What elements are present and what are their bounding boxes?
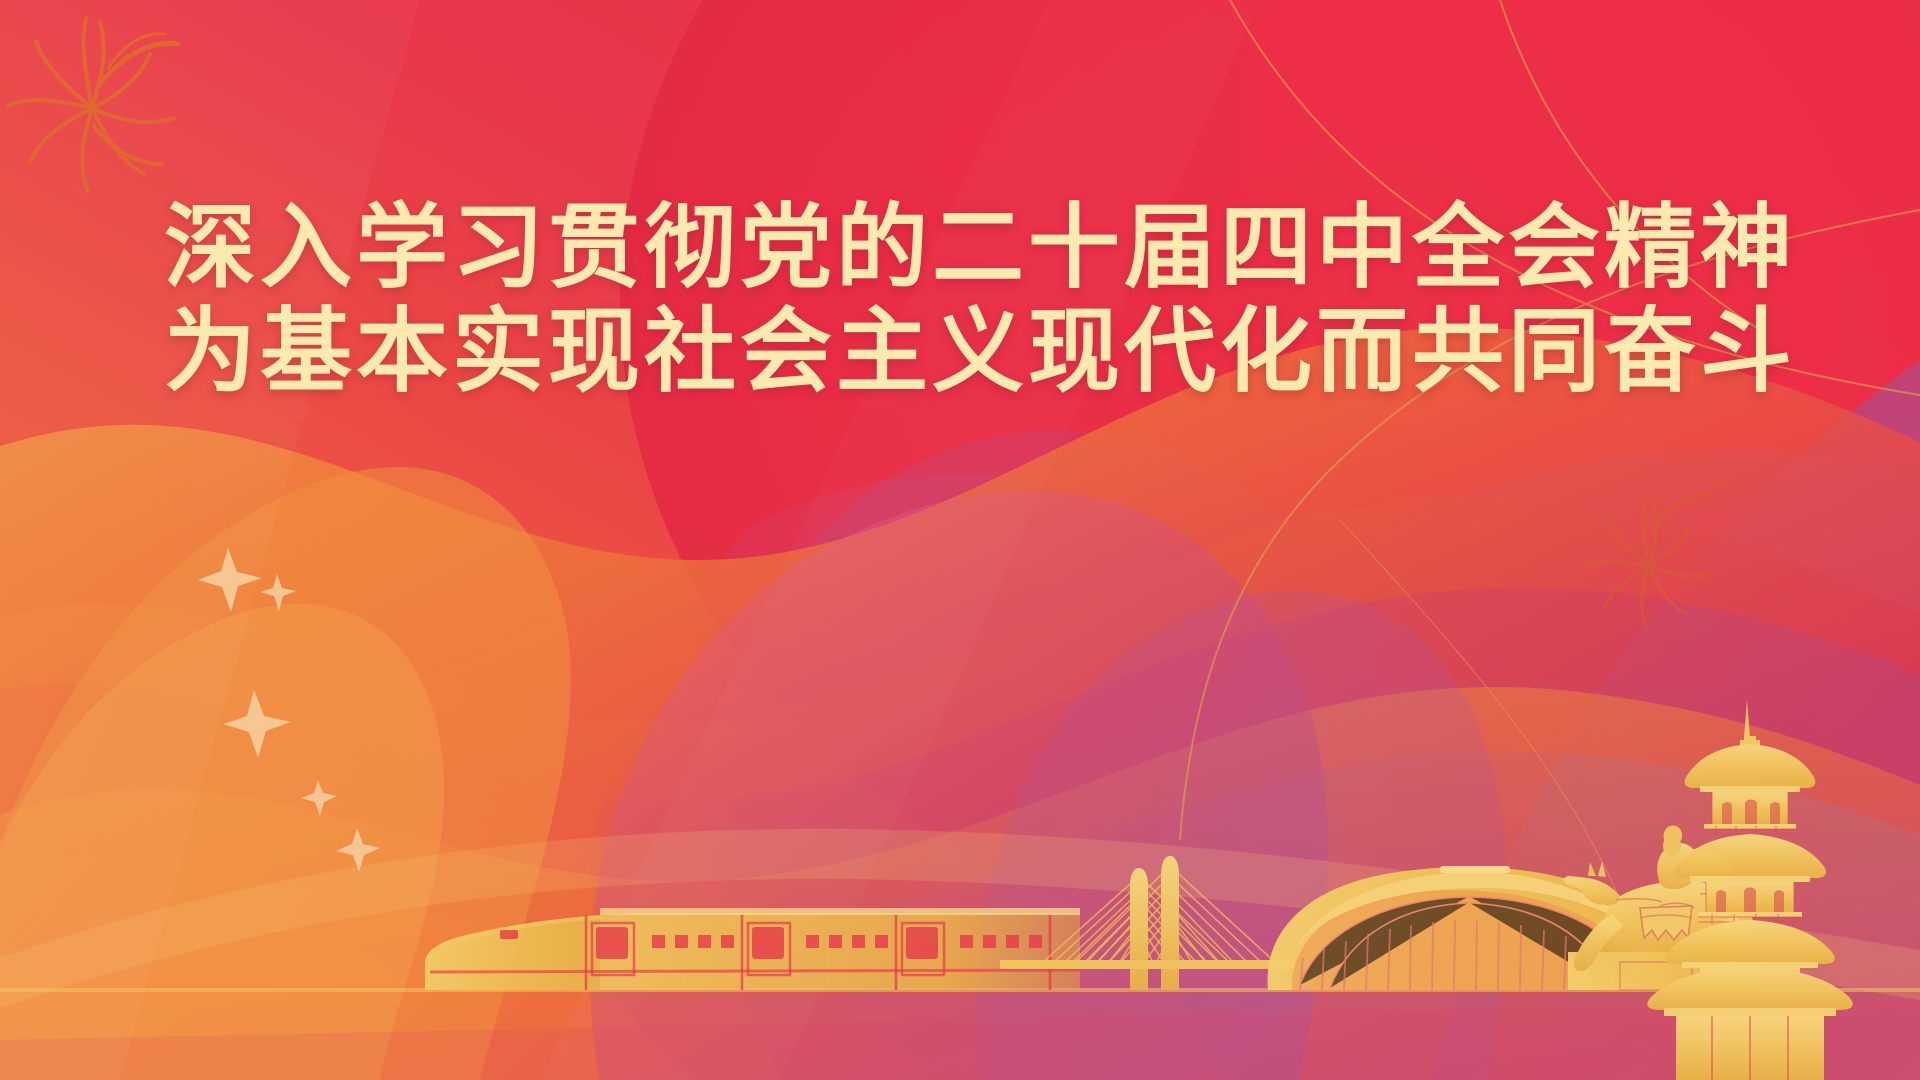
pagoda-icon — [1647, 700, 1852, 1080]
cable-stayed-bridge-icon — [1000, 856, 1310, 990]
star-large-upper — [198, 548, 262, 612]
star-tiny-bottom — [336, 828, 380, 872]
high-speed-train-icon — [425, 908, 1080, 990]
pagoda-roof-3 — [1665, 920, 1835, 964]
star-decorations — [198, 548, 380, 872]
landmark-skyline — [0, 0, 1920, 1080]
pagoda-roof-2 — [1674, 834, 1826, 878]
firework-icon-top-left — [8, 18, 178, 192]
pagoda-base — [1647, 966, 1852, 1010]
bridge-pylon-right — [1161, 856, 1179, 990]
background-artwork — [0, 0, 1920, 1080]
decorative-ornaments — [0, 0, 1920, 1080]
star-small-lower — [301, 780, 337, 816]
bridge-pylon-left — [1130, 868, 1148, 990]
stadium-icon — [1267, 866, 1674, 990]
bridge-deck — [1000, 960, 1310, 969]
page-title: 深入学习贯彻党的二十届四中全会精神 为基本实现社会主义现代化而共同奋斗 — [0, 196, 1920, 404]
firework-icon-right — [1587, 480, 1720, 629]
banner-poster: 深入学习贯彻党的二十届四中全会精神 为基本实现社会主义现代化而共同奋斗 — [0, 0, 1920, 1080]
star-small-upper — [260, 574, 296, 611]
title-line-2: 为基本实现社会主义现代化而共同奋斗 — [40, 300, 1920, 404]
equestrian-statue-icon — [1564, 826, 1758, 990]
statue-pedestal — [1568, 952, 1758, 990]
ground-line — [0, 988, 1920, 992]
title-line-1: 深入学习贯彻党的二十届四中全会精神 — [40, 196, 1920, 300]
pagoda-roof-1 — [1685, 744, 1816, 788]
star-large-lower — [223, 690, 291, 758]
